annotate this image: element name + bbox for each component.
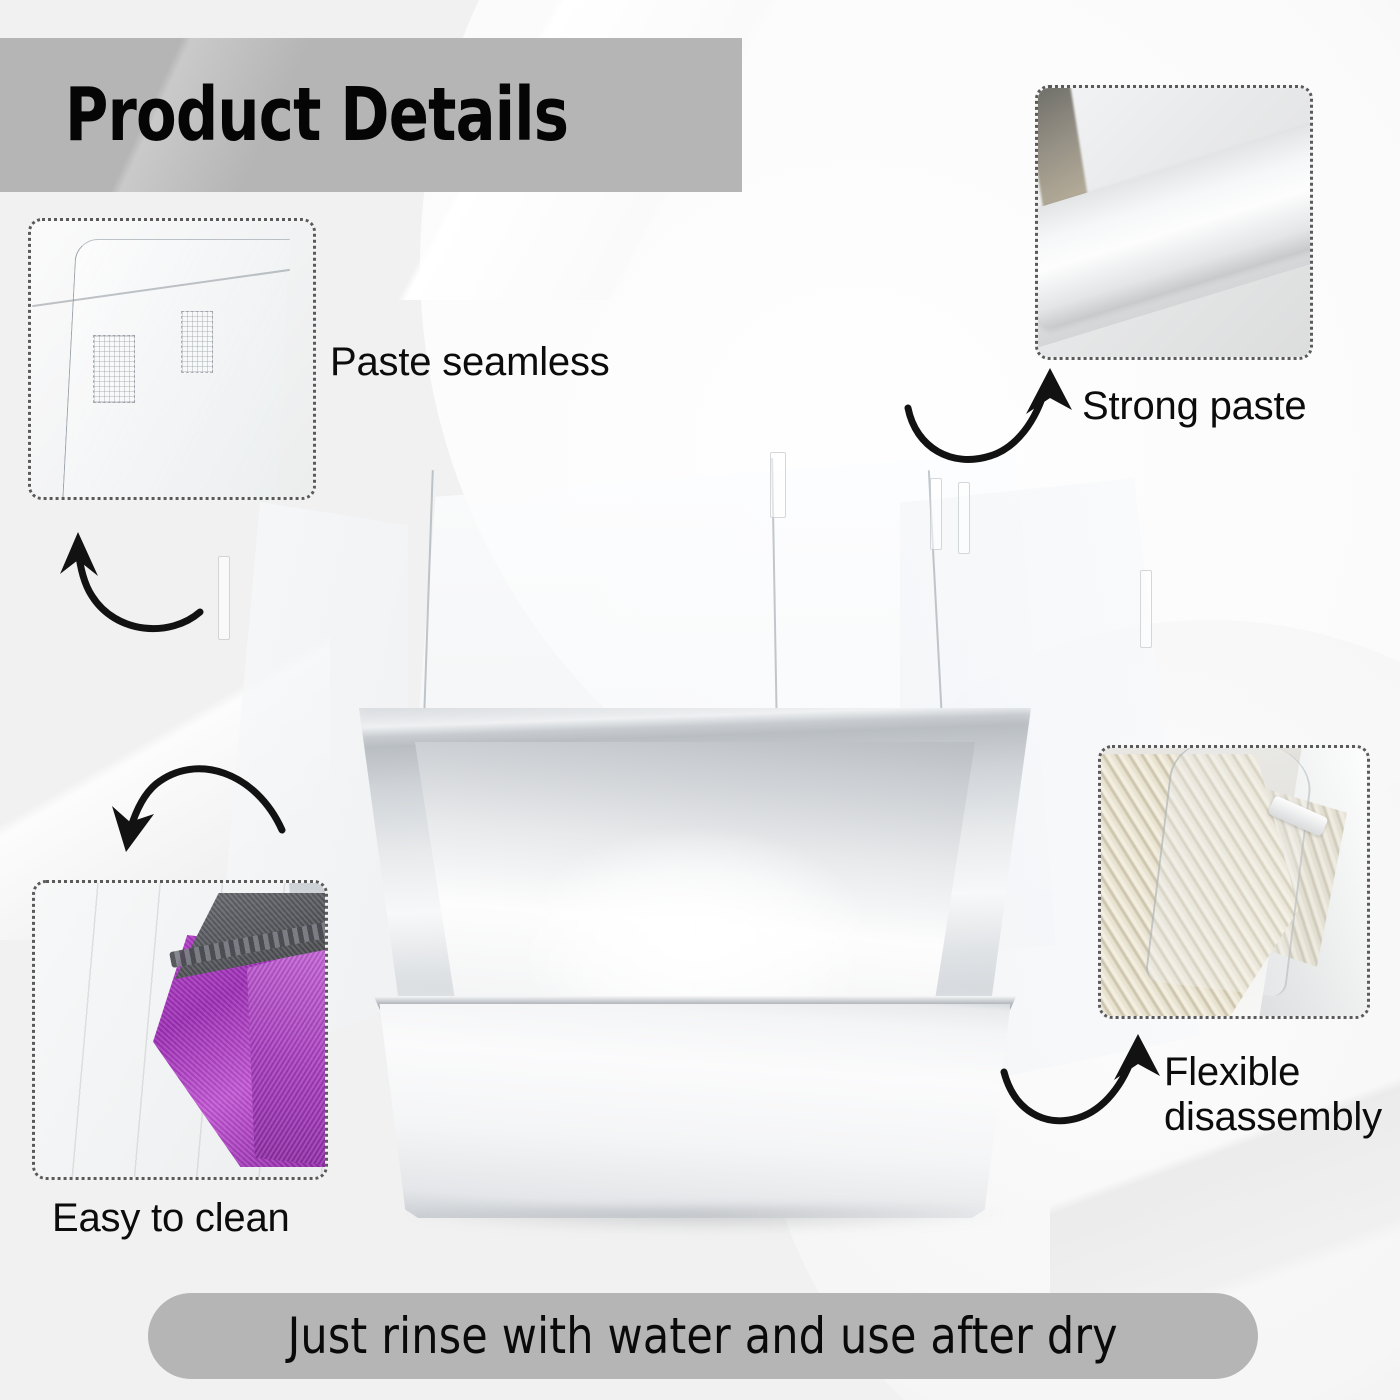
footer-banner: Just rinse with water and use after dry <box>148 1293 1258 1379</box>
callout-label-flexible-disassembly: Flexible disassembly <box>1164 1050 1382 1140</box>
thumbnail-easy-to-clean-image <box>35 883 325 1177</box>
thumbnail-flexible-disassembly[interactable] <box>1098 745 1370 1019</box>
thumbnail-paste-seamless-image <box>31 221 313 497</box>
thumbnail-strong-paste[interactable] <box>1035 85 1313 360</box>
tray-front-wall <box>373 1004 1017 1218</box>
callout-label-easy-to-clean: Easy to clean <box>52 1196 290 1241</box>
product-details-infographic: Product Details <box>0 0 1400 1400</box>
stainless-steel-tray <box>345 708 1045 1218</box>
panel-tab-right-a <box>930 478 942 550</box>
tray-highlight <box>515 828 875 1018</box>
thumbnail-strong-paste-image <box>1038 88 1310 357</box>
title-banner: Product Details <box>0 38 742 192</box>
velcro-patch-left <box>93 335 135 403</box>
tray-shadow <box>405 1206 1005 1232</box>
panel-tab-far-right <box>1140 570 1152 648</box>
velcro-patch-right <box>181 311 213 373</box>
panel-tab-left <box>218 556 230 640</box>
page-title: Product Details <box>65 78 568 152</box>
curved-arrow-up-left-icon <box>40 496 210 646</box>
footer-banner-text: Just rinse with water and use after dry <box>288 1307 1118 1365</box>
panel-tab-center <box>770 452 786 518</box>
product-image <box>200 430 1210 1270</box>
thumbnail-easy-to-clean[interactable] <box>32 880 328 1180</box>
callout-label-paste-seamless: Paste seamless <box>330 340 610 385</box>
panel-tab-right-b <box>958 482 970 554</box>
thumbnail-flexible-disassembly-image <box>1101 748 1367 1016</box>
callout-label-strong-paste: Strong paste <box>1082 384 1306 429</box>
thumbnail-paste-seamless[interactable] <box>28 218 316 500</box>
